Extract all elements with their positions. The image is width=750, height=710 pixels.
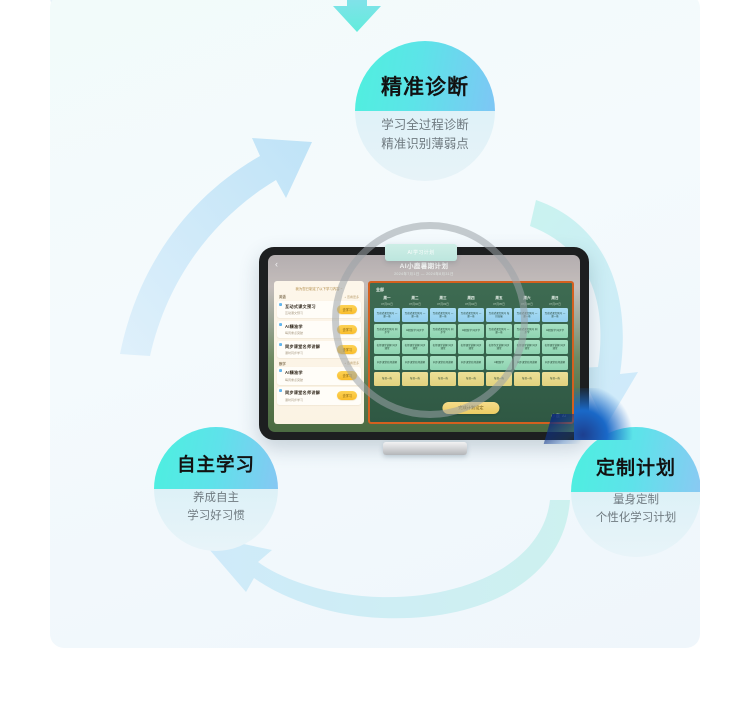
course-card-texts: 互动式课文预习互动课文预习 bbox=[281, 304, 316, 316]
course-group-name: 英语 bbox=[279, 294, 286, 299]
course-card-title: AI精准学 bbox=[285, 370, 303, 376]
cycle-node-subtitle: 养成自主 学习好习惯 bbox=[187, 490, 245, 526]
cycle-node-title: 精准诊断 bbox=[381, 71, 469, 101]
pencil-icon bbox=[279, 303, 282, 306]
tablet-stand bbox=[383, 442, 467, 455]
course-card-desc: 每周重点突破 bbox=[285, 378, 303, 382]
plan-cell[interactable]: 每日一练 bbox=[514, 372, 540, 386]
cycle-node-custom-plan: 定制计划 量身定制 个性化学习计划 bbox=[571, 427, 700, 557]
cycle-node-precise-diagnosis: 精准诊断 学习全过程诊断 精准识别薄弱点 bbox=[355, 41, 495, 181]
subtitle-line: 量身定制 bbox=[596, 492, 677, 510]
course-card-texts: 同步课堂名师讲解课时同步学习 bbox=[281, 344, 320, 356]
week-date-label: 07月07日 bbox=[542, 302, 568, 306]
course-card-title: 互动式课文预习 bbox=[285, 304, 316, 310]
course-card-desc: 课时同步学习 bbox=[285, 351, 320, 355]
cycle-node-title: 定制计划 bbox=[596, 453, 676, 480]
subtitle-line: 学习好习惯 bbox=[187, 508, 245, 526]
pencil-icon bbox=[279, 389, 282, 392]
course-card-texts: AI精准学每周重点突破 bbox=[281, 324, 303, 336]
course-card-title: 同步课堂名师讲解 bbox=[285, 390, 320, 396]
course-group-name: 数学 bbox=[279, 361, 286, 366]
learning-cycle-panel: AI学习计划 ‹ AI小鹿暑期计划 2024年7月1日 — 2024年8月31日… bbox=[50, 0, 700, 648]
promo-page: AI学习计划 ‹ AI小鹿暑期计划 2024年7月1日 — 2024年8月31日… bbox=[0, 0, 750, 710]
course-card-desc: 每周重点突破 bbox=[285, 331, 303, 335]
plan-cell[interactable]: 同步课堂名师讲解 bbox=[542, 356, 568, 370]
course-card-desc: 课时同步学习 bbox=[285, 398, 320, 402]
course-card[interactable]: 同步课堂名师讲解课时同步学习去学习 bbox=[277, 387, 361, 405]
week-day-label: 周日 bbox=[542, 296, 568, 301]
course-card-title: 同步课堂名师讲解 bbox=[285, 344, 320, 350]
arrow-down-top-icon bbox=[325, 0, 405, 44]
plan-cell[interactable]: 每日一练 bbox=[542, 372, 568, 386]
pencil-icon bbox=[279, 369, 282, 372]
subtitle-line: 学习全过程诊断 bbox=[381, 116, 469, 135]
week-column-header: 周日07月07日 bbox=[542, 296, 568, 307]
subtitle-line: 精准识别薄弱点 bbox=[381, 135, 469, 154]
course-card-desc: 互动课文预习 bbox=[285, 311, 316, 315]
course-card-title: AI精准学 bbox=[285, 324, 303, 330]
cycle-node-title: 自主学习 bbox=[177, 451, 255, 477]
pencil-icon bbox=[279, 323, 282, 326]
subtitle-line: 养成自主 bbox=[187, 490, 245, 508]
plan-cell[interactable]: 名师课堂讲解 同步课堂 bbox=[542, 340, 568, 354]
floating-plan-tag: AI学习计划 bbox=[385, 244, 457, 261]
course-card-texts: 同步课堂名师讲解课时同步学习 bbox=[281, 390, 320, 402]
cycle-node-subtitle: 学习全过程诊断 精准识别薄弱点 bbox=[381, 116, 469, 155]
back-chevron-icon[interactable]: ‹ bbox=[275, 261, 282, 268]
course-card-action-button[interactable]: 去学习 bbox=[337, 391, 357, 400]
pencil-icon bbox=[279, 343, 282, 346]
cycle-node-self-study: 自主学习 养成自主 学习好习惯 bbox=[154, 427, 278, 551]
floating-plan-tag-label: AI学习计划 bbox=[407, 249, 434, 256]
plan-cell[interactable]: 互动式课文预习 一课一练 bbox=[542, 308, 568, 322]
cycle-node-subtitle: 量身定制 个性化学习计划 bbox=[596, 492, 677, 528]
subtitle-line: 个性化学习计划 bbox=[596, 510, 677, 528]
plan-cell[interactable]: AI精准学 同步学 bbox=[542, 324, 568, 338]
course-card-texts: AI精准学每周重点突破 bbox=[281, 370, 303, 382]
